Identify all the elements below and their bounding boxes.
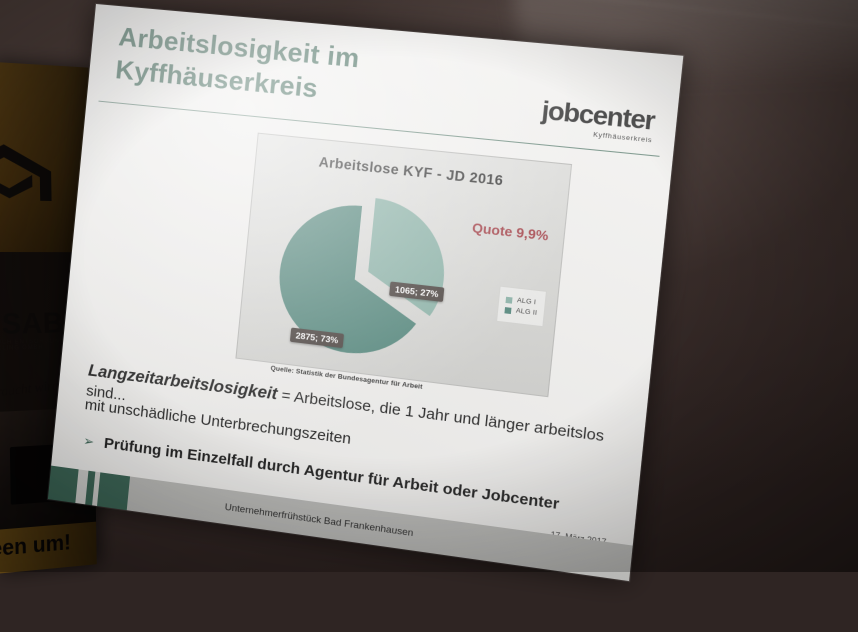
legend-item-alg1: ALG I <box>506 296 539 307</box>
legend-swatch-icon <box>505 307 512 314</box>
chart-title: Arbeitslose KYF - JD 2016 <box>256 148 570 195</box>
pie-chart: 1065; 27% 2875; 73% <box>266 187 460 370</box>
chart-legend: ALG I ALG II <box>496 286 547 328</box>
quote-annotation: Quote 9,9% <box>471 220 549 244</box>
legend-swatch-icon <box>506 296 513 303</box>
legend-label-alg2: ALG II <box>516 307 538 317</box>
presentation-slide: Arbeitslosigkeit im Kyffhäuserkreis jobc… <box>48 4 683 581</box>
footer-stripe <box>48 466 79 503</box>
projection-screen: Arbeitslosigkeit im Kyffhäuserkreis jobc… <box>43 4 701 632</box>
footer-stripe <box>97 472 130 510</box>
footer-text: Unternehmerfrühstück Bad Frankenhausen <box>224 501 414 538</box>
legend-item-alg2: ALG II <box>505 306 538 317</box>
jobcenter-logo: jobcenter Kyffhäuserkreis <box>539 98 655 144</box>
bullet-arrow-icon: ➢ <box>83 433 95 450</box>
legend-label-alg1: ALG I <box>517 297 537 306</box>
pie-chart-panel: Arbeitslose KYF - JD 2016 Quote 9,9% 106… <box>235 133 572 398</box>
